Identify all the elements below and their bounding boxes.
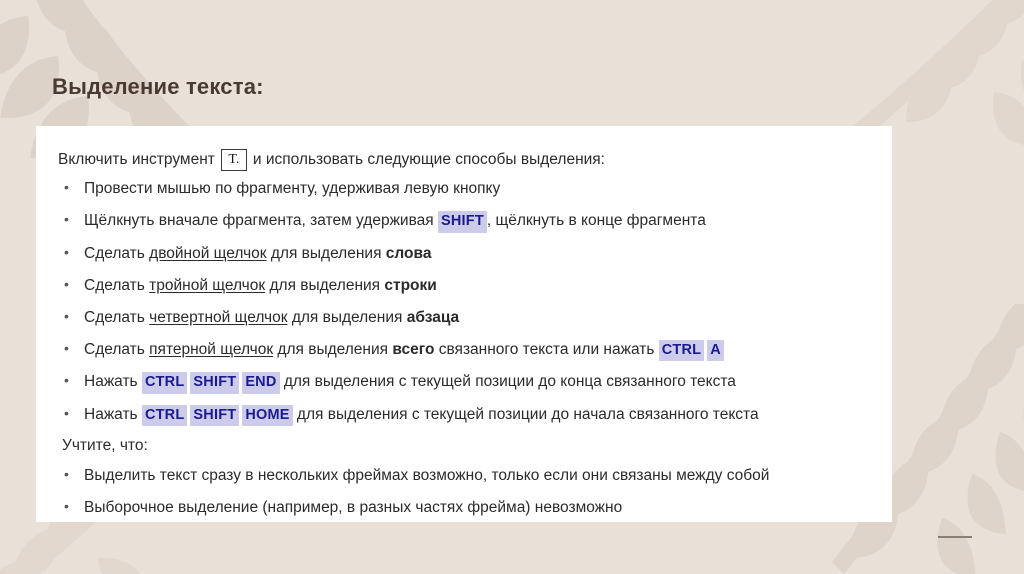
emphasis-underline: четвертной щелчок	[149, 309, 287, 326]
text-run: Сделать	[84, 309, 149, 326]
slide-root: Выделение текста: Включить инструмент T.…	[0, 0, 1024, 574]
intro-line: Включить инструмент T. и использовать сл…	[58, 148, 866, 171]
text-run: для выделения	[273, 341, 392, 358]
key-badge: SHIFT	[190, 405, 239, 427]
emphasis-bold: всего	[392, 341, 434, 358]
key-badge: HOME	[242, 405, 292, 427]
text-run: для выделения	[265, 277, 384, 294]
emphasis-underline: двойной щелчок	[149, 245, 266, 262]
text-run: Щёлкнуть вначале фрагмента, затем удержи…	[84, 212, 438, 229]
text-run: Выделить текст сразу в нескольких фрейма…	[84, 467, 769, 484]
shortcut-keys: CTRLA	[659, 341, 724, 358]
list-item: Сделать тройной щелчок для выделения стр…	[58, 276, 866, 297]
selection-methods-list: Провести мышью по фрагменту, удерживая л…	[58, 179, 866, 426]
key-badge: CTRL	[142, 372, 187, 394]
text-run: Сделать	[84, 341, 149, 358]
intro-text-after: и использовать следующие способы выделен…	[253, 148, 605, 171]
text-run: для выделения	[288, 309, 407, 326]
emphasis-bold: строки	[384, 277, 436, 294]
list-item: Сделать двойной щелчок для выделения сло…	[58, 244, 866, 265]
text-run: для выделения с текущей позиции до начал…	[293, 406, 759, 423]
list-item: Нажать CTRLSHIFTHOME для выделения с тек…	[58, 405, 866, 427]
emphasis-bold: абзаца	[407, 309, 459, 326]
text-tool-icon[interactable]: T.	[221, 149, 247, 171]
shortcut-keys: CTRLSHIFTEND	[142, 373, 280, 390]
list-item: Щёлкнуть вначале фрагмента, затем удержи…	[58, 211, 866, 233]
content-card: Включить инструмент T. и использовать сл…	[36, 126, 892, 522]
list-item: Выделить текст сразу в нескольких фрейма…	[58, 466, 866, 487]
list-item: Сделать пятерной щелчок для выделения вс…	[58, 340, 866, 362]
emphasis-underline: тройной щелчок	[149, 277, 265, 294]
text-run: Сделать	[84, 245, 149, 262]
text-run: Провести мышью по фрагменту, удерживая л…	[84, 180, 500, 197]
notes-list: Выделить текст сразу в нескольких фрейма…	[58, 466, 866, 519]
key-badge: A	[707, 340, 724, 362]
text-run: для выделения	[267, 245, 386, 262]
text-run: Нажать	[84, 373, 142, 390]
text-run: Нажать	[84, 406, 142, 423]
note-heading: Учтите, что:	[58, 437, 866, 455]
list-item: Нажать CTRLSHIFTEND для выделения с теку…	[58, 372, 866, 394]
key-badge: CTRL	[659, 340, 704, 362]
key-badge: SHIFT	[190, 372, 239, 394]
page-title: Выделение текста:	[52, 74, 264, 100]
list-item: Провести мышью по фрагменту, удерживая л…	[58, 179, 866, 200]
text-run: Выборочное выделение (например, в разных…	[84, 499, 622, 516]
list-item: Сделать четвертной щелчок для выделения …	[58, 308, 866, 329]
intro-text-before: Включить инструмент	[58, 148, 215, 171]
emphasis-underline: пятерной щелчок	[149, 341, 273, 358]
corner-underline-mark	[938, 536, 972, 538]
key-badge: END	[242, 372, 279, 394]
text-run: Сделать	[84, 277, 149, 294]
shortcut-keys: SHIFT	[438, 212, 487, 229]
shortcut-keys: CTRLSHIFTHOME	[142, 406, 293, 423]
key-badge: CTRL	[142, 405, 187, 427]
text-run: , щёлкнуть в конце фрагмента	[487, 212, 706, 229]
key-badge: SHIFT	[438, 211, 487, 233]
text-run: для выделения с текущей позиции до конца…	[280, 373, 736, 390]
list-item: Выборочное выделение (например, в разных…	[58, 498, 866, 519]
text-run: связанного текста или нажать	[434, 341, 658, 358]
emphasis-bold: слова	[386, 245, 432, 262]
